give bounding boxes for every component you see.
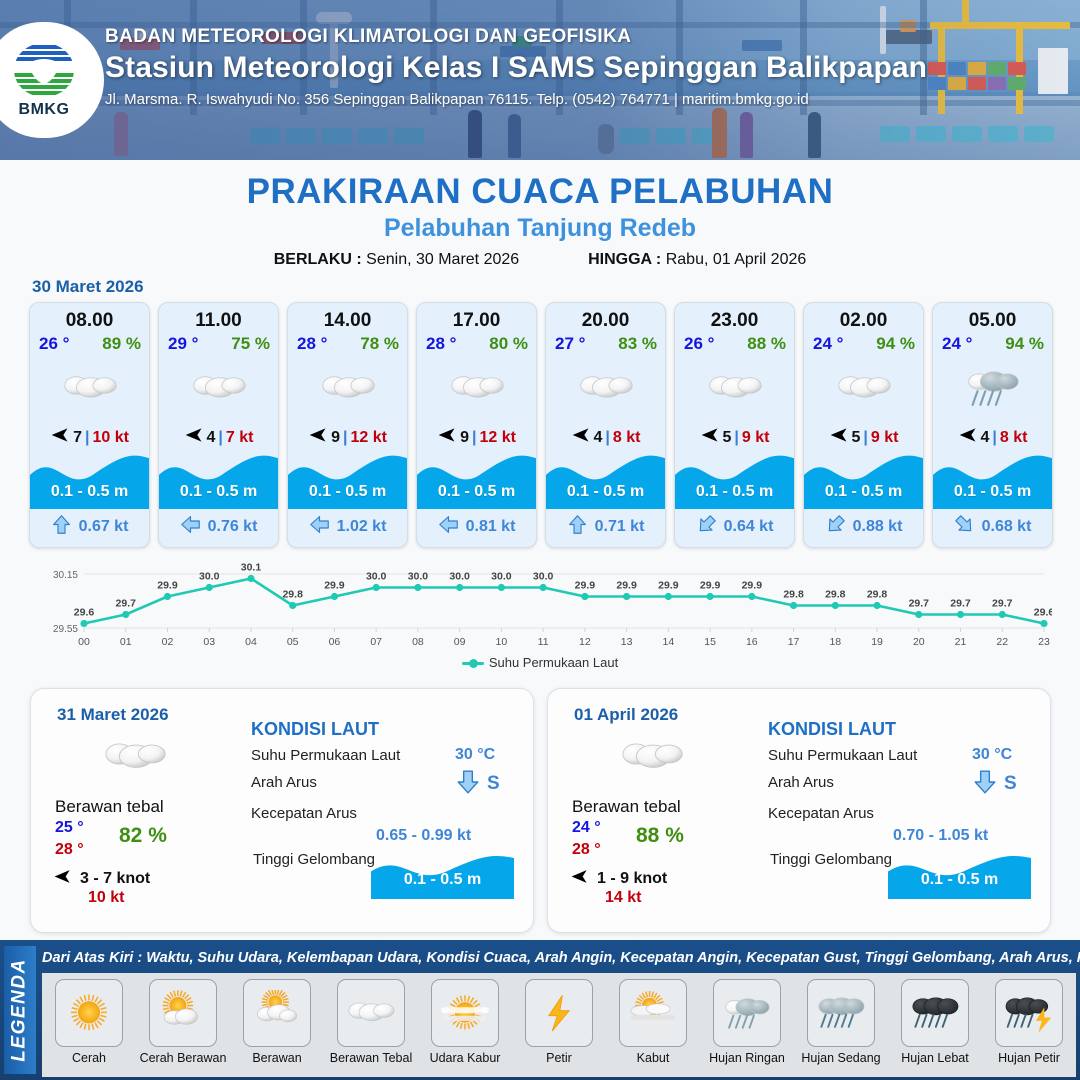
svg-text:30.0: 30.0 <box>366 571 387 583</box>
svg-text:00: 00 <box>78 636 90 648</box>
wave-graphic: 0.1 - 0.5 m <box>159 447 278 509</box>
wind-direction-arrow-icon <box>53 867 72 891</box>
weather-kabut-icon <box>619 979 687 1047</box>
valid-until-label: HINGGA : <box>588 251 661 268</box>
svg-text:20: 20 <box>913 636 925 648</box>
current-speed: 0.64 kt <box>724 518 774 536</box>
forecast-humidity: 83 % <box>618 334 657 354</box>
current-direction-label: Arah Arus <box>768 774 834 791</box>
wave-graphic: 0.1 - 0.5 m <box>288 447 407 509</box>
panel-wind: 3 - 7 knot <box>53 867 150 891</box>
wind-speed: 4 <box>594 429 603 447</box>
panel-wave-value: 0.1 - 0.5 m <box>888 871 1031 889</box>
weather-petir-icon <box>525 979 593 1047</box>
wind-speed: 9 <box>460 429 469 447</box>
forecast-current: 1.02 kt <box>288 512 407 542</box>
panel-gust: 14 kt <box>605 889 641 907</box>
svg-text:30.0: 30.0 <box>449 571 470 583</box>
weather-berawan-tebal-icon <box>288 357 407 419</box>
current-speed-label: Kecepatan Arus <box>251 805 357 822</box>
legend-item: Hujan Ringan <box>700 979 794 1065</box>
forecast-card[interactable]: 23.0026 °88 %5|9 kt0.1 - 0.5 m0.64 kt <box>674 302 795 548</box>
svg-text:30.0: 30.0 <box>533 571 554 583</box>
current-direction-arrow-icon <box>954 514 975 540</box>
wave-height: 0.1 - 0.5 m <box>933 483 1052 501</box>
wind-gust: 8 kt <box>613 429 641 447</box>
forecast-current: 0.71 kt <box>546 512 665 542</box>
page-subtitle: Pelabuhan Tanjung Redeb <box>0 214 1080 243</box>
svg-text:29.9: 29.9 <box>575 580 596 592</box>
current-direction-arrow-icon <box>51 514 72 540</box>
svg-text:23: 23 <box>1038 636 1050 648</box>
sst-value: 30 °C <box>455 746 495 764</box>
wind-speed: 7 <box>73 429 82 447</box>
forecast-temperature: 28 ° <box>426 334 456 354</box>
forecast-time: 08.00 <box>30 310 149 332</box>
current-direction-arrow-icon <box>825 514 846 540</box>
sea-conditions-title: KONDISI LAUT <box>768 719 896 740</box>
panel-wind-range: 3 - 7 knot <box>80 870 150 888</box>
station-address: Jl. Marsma. R. Iswahyudi No. 356 Sepingg… <box>105 91 1065 108</box>
svg-text:21: 21 <box>955 636 967 648</box>
legend-item: Berawan <box>230 979 324 1065</box>
wind-gust: 10 kt <box>92 429 128 447</box>
svg-text:29.7: 29.7 <box>116 598 137 610</box>
forecast-humidity: 94 % <box>1005 334 1044 354</box>
weather-udara-kabur-icon <box>431 979 499 1047</box>
svg-text:29.7: 29.7 <box>992 598 1013 610</box>
current-direction-arrow-icon <box>438 514 459 540</box>
svg-text:16: 16 <box>746 636 758 648</box>
daily-forecast-panel[interactable]: 01 April 2026Berawan tebal24 °28 °88 %1 … <box>547 688 1051 933</box>
daily-forecast-panel[interactable]: 31 Maret 2026Berawan tebal25 °28 °82 %3 … <box>30 688 534 933</box>
wave-height: 0.1 - 0.5 m <box>417 483 536 501</box>
weather-berawan-tebal-icon <box>30 357 149 419</box>
wave-graphic: 0.1 - 0.5 m <box>417 447 536 509</box>
station-name: Stasiun Meteorologi Kelas I SAMS Sepingg… <box>105 51 1065 85</box>
forecast-time: 14.00 <box>288 310 407 332</box>
wave-height: 0.1 - 0.5 m <box>288 483 407 501</box>
sea-conditions-title: KONDISI LAUT <box>251 719 379 740</box>
svg-text:29.55: 29.55 <box>53 624 78 635</box>
bmkg-logo-text: BMKG <box>19 101 70 119</box>
current-direction-arrow-icon <box>455 769 481 800</box>
svg-text:29.8: 29.8 <box>783 589 804 601</box>
weather-hujan-ringan-icon <box>713 979 781 1047</box>
panel-wave-value: 0.1 - 0.5 m <box>371 871 514 889</box>
weather-hujan-sedang-icon <box>807 979 875 1047</box>
forecast-time: 20.00 <box>546 310 665 332</box>
legend-item-label: Hujan Sedang <box>801 1051 880 1065</box>
svg-text:29.9: 29.9 <box>700 580 721 592</box>
svg-text:30.0: 30.0 <box>408 571 429 583</box>
weather-berawan-tebal-icon <box>417 357 536 419</box>
wind-gust: 9 kt <box>871 429 899 447</box>
legend-item: Cerah <box>42 979 136 1065</box>
legend-item: Petir <box>512 979 606 1065</box>
svg-text:29.7: 29.7 <box>950 598 971 610</box>
legend-section: LEGENDA Dari Atas Kiri : Waktu, Suhu Uda… <box>0 940 1080 1080</box>
svg-text:22: 22 <box>996 636 1008 648</box>
wind-speed: 4 <box>981 429 990 447</box>
forecast-temperature: 26 ° <box>684 334 714 354</box>
forecast-temperature: 24 ° <box>813 334 843 354</box>
svg-text:13: 13 <box>621 636 633 648</box>
weather-berawan-tebal-icon <box>675 357 794 419</box>
forecast-card[interactable]: 20.0027 °83 %4|8 kt0.1 - 0.5 m0.71 kt <box>545 302 666 548</box>
svg-text:29.9: 29.9 <box>616 580 637 592</box>
svg-text:07: 07 <box>370 636 382 648</box>
sst-value: 30 °C <box>972 746 1012 764</box>
title-block: PRAKIRAAN CUACA PELABUHAN Pelabuhan Tanj… <box>0 160 1080 280</box>
panel-wind-range: 1 - 9 knot <box>597 870 667 888</box>
svg-text:30.1: 30.1 <box>241 562 262 574</box>
forecast-card[interactable]: 14.0028 °78 %9|12 kt0.1 - 0.5 m1.02 kt <box>287 302 408 548</box>
forecast-day-label: 30 Maret 2026 <box>32 277 144 297</box>
forecast-current: 0.67 kt <box>30 512 149 542</box>
forecast-current: 0.68 kt <box>933 512 1052 542</box>
valid-from-value: Senin, 30 Maret 2026 <box>366 251 519 268</box>
weather-cerah-icon <box>55 979 123 1047</box>
legend-item: Udara Kabur <box>418 979 512 1065</box>
svg-text:09: 09 <box>454 636 466 648</box>
forecast-humidity: 80 % <box>489 334 528 354</box>
svg-text:29.6: 29.6 <box>74 607 95 619</box>
weather-berawan-tebal-icon <box>546 357 665 419</box>
current-direction-value: S <box>1004 773 1017 795</box>
weather-cerah-berawan-icon <box>149 979 217 1047</box>
forecast-card[interactable]: 08.0026 °89 %7|10 kt0.1 - 0.5 m0.67 kt <box>29 302 150 548</box>
wind-speed: 9 <box>331 429 340 447</box>
svg-text:15: 15 <box>704 636 716 648</box>
sst-chart: 30.1529.550029.60129.70229.90330.00430.1… <box>28 556 1052 678</box>
forecast-humidity: 89 % <box>102 334 141 354</box>
svg-text:17: 17 <box>788 636 800 648</box>
legend-item: Kabut <box>606 979 700 1065</box>
svg-text:29.8: 29.8 <box>825 589 846 601</box>
panel-humidity: 88 % <box>636 824 684 848</box>
current-speed: 0.81 kt <box>466 518 516 536</box>
page-title: PRAKIRAAN CUACA PELABUHAN <box>0 160 1080 212</box>
forecast-current: 0.76 kt <box>159 512 278 542</box>
svg-text:04: 04 <box>245 636 257 648</box>
wave-height: 0.1 - 0.5 m <box>675 483 794 501</box>
legend-item-label: Petir <box>546 1051 572 1065</box>
panel-temp-min: 25 ° <box>55 819 84 837</box>
forecast-current: 0.81 kt <box>417 512 536 542</box>
forecast-current: 0.64 kt <box>675 512 794 542</box>
panel-date: 31 Maret 2026 <box>57 705 169 725</box>
page-header: BMKG BADAN METEOROLOGI KLIMATOLOGI DAN G… <box>0 0 1080 160</box>
legend-title: LEGENDA <box>9 958 31 1061</box>
legend-item: Hujan Petir <box>982 979 1076 1065</box>
svg-text:29.9: 29.9 <box>658 580 679 592</box>
current-direction-arrow-icon <box>180 514 201 540</box>
weather-hujan-ringan-icon <box>933 357 1052 419</box>
svg-text:29.7: 29.7 <box>909 598 930 610</box>
current-direction-arrow-icon <box>696 514 717 540</box>
svg-text:29.9: 29.9 <box>324 580 345 592</box>
current-speed: 0.71 kt <box>595 518 645 536</box>
forecast-time: 05.00 <box>933 310 1052 332</box>
svg-text:14: 14 <box>663 636 675 648</box>
legend-note: Dari Atas Kiri : Waktu, Suhu Udara, Kele… <box>42 950 1080 966</box>
wave-graphic: 0.1 - 0.5 m <box>30 447 149 509</box>
svg-text:11: 11 <box>538 636 549 648</box>
chart-legend-label: Suhu Permukaan Laut <box>489 655 618 670</box>
current-direction-arrow-icon <box>567 514 588 540</box>
legend-title-bar: LEGENDA <box>4 946 36 1074</box>
weather-berawan-tebal-icon <box>337 979 405 1047</box>
wind-speed: 5 <box>723 429 732 447</box>
weather-berawan-icon <box>243 979 311 1047</box>
panel-wind: 1 - 9 knot <box>570 867 667 891</box>
current-speed-label: Kecepatan Arus <box>768 805 874 822</box>
forecast-card[interactable]: 11.0029 °75 %4|7 kt0.1 - 0.5 m0.76 kt <box>158 302 279 548</box>
panel-condition: Berawan tebal <box>55 797 164 817</box>
legend-item: Berawan Tebal <box>324 979 418 1065</box>
forecast-card-list: 08.0026 °89 %7|10 kt0.1 - 0.5 m0.67 kt11… <box>29 302 1053 550</box>
forecast-temperature: 28 ° <box>297 334 327 354</box>
forecast-humidity: 94 % <box>876 334 915 354</box>
legend-item: Hujan Lebat <box>888 979 982 1065</box>
panel-temp-max: 28 ° <box>55 841 84 859</box>
current-speed-value: 0.65 - 0.99 kt <box>376 827 471 845</box>
wind-gust: 7 kt <box>226 429 254 447</box>
svg-text:19: 19 <box>871 636 883 648</box>
current-speed: 0.88 kt <box>853 518 903 536</box>
wind-speed: 4 <box>207 429 216 447</box>
panel-humidity: 82 % <box>119 824 167 848</box>
wind-gust: 9 kt <box>742 429 770 447</box>
current-speed: 0.68 kt <box>982 518 1032 536</box>
svg-text:10: 10 <box>496 636 508 648</box>
wind-gust: 12 kt <box>350 429 386 447</box>
legend-item-label: Udara Kabur <box>430 1051 501 1065</box>
svg-text:06: 06 <box>329 636 341 648</box>
svg-text:29.9: 29.9 <box>157 580 178 592</box>
panel-condition: Berawan tebal <box>572 797 681 817</box>
forecast-temperature: 27 ° <box>555 334 585 354</box>
wave-height-label: Tinggi Gelombang <box>253 851 375 868</box>
legend-item: Hujan Sedang <box>794 979 888 1065</box>
legend-item-label: Cerah Berawan <box>140 1051 227 1065</box>
forecast-time: 17.00 <box>417 310 536 332</box>
svg-text:30.0: 30.0 <box>199 571 220 583</box>
weather-hujan-lebat-icon <box>901 979 969 1047</box>
weather-berawan-tebal-icon <box>600 729 704 785</box>
current-speed: 1.02 kt <box>337 518 387 536</box>
weather-berawan-tebal-icon <box>804 357 923 419</box>
legend-item-label: Cerah <box>72 1051 106 1065</box>
svg-text:29.8: 29.8 <box>867 589 888 601</box>
chart-legend: Suhu Permukaan Laut <box>28 655 1052 670</box>
svg-text:18: 18 <box>829 636 841 648</box>
wave-height: 0.1 - 0.5 m <box>30 483 149 501</box>
wave-graphic: 0.1 - 0.5 m <box>546 447 665 509</box>
panel-temp-max: 28 ° <box>572 841 601 859</box>
current-direction-arrow-icon <box>309 514 330 540</box>
panel-wave-graphic: 0.1 - 0.5 m <box>888 849 1031 899</box>
svg-text:29.6: 29.6 <box>1034 607 1052 619</box>
sst-label: Suhu Permukaan Laut <box>251 747 400 764</box>
legend-item-label: Berawan <box>252 1051 301 1065</box>
svg-text:03: 03 <box>203 636 215 648</box>
legend-icon-strip: CerahCerah BerawanBerawanBerawan TebalUd… <box>42 973 1076 1077</box>
svg-text:05: 05 <box>287 636 299 648</box>
svg-text:30.15: 30.15 <box>53 570 78 581</box>
svg-text:30.0: 30.0 <box>491 571 512 583</box>
wind-speed: 5 <box>852 429 861 447</box>
forecast-humidity: 75 % <box>231 334 270 354</box>
valid-until-value: Rabu, 01 April 2026 <box>666 251 807 268</box>
wave-graphic: 0.1 - 0.5 m <box>933 447 1052 509</box>
bmkg-logo-mark <box>10 42 78 100</box>
legend-item-label: Hujan Lebat <box>901 1051 968 1065</box>
wave-height: 0.1 - 0.5 m <box>159 483 278 501</box>
current-speed-value: 0.70 - 1.05 kt <box>893 827 988 845</box>
svg-text:29.8: 29.8 <box>282 589 303 601</box>
legend-item: Cerah Berawan <box>136 979 230 1065</box>
wind-gust: 12 kt <box>479 429 515 447</box>
chart-legend-marker <box>462 658 484 668</box>
weather-hujan-petir-icon <box>995 979 1063 1047</box>
forecast-time: 11.00 <box>159 310 278 332</box>
current-direction-label: Arah Arus <box>251 774 317 791</box>
weather-berawan-tebal-icon <box>159 357 278 419</box>
wave-height: 0.1 - 0.5 m <box>546 483 665 501</box>
svg-text:08: 08 <box>412 636 424 648</box>
forecast-time: 02.00 <box>804 310 923 332</box>
current-speed: 0.67 kt <box>79 518 129 536</box>
legend-item-label: Berawan Tebal <box>330 1051 412 1065</box>
svg-text:29.9: 29.9 <box>742 580 763 592</box>
forecast-current: 0.88 kt <box>804 512 923 542</box>
forecast-temperature: 24 ° <box>942 334 972 354</box>
valid-from-label: BERLAKU : <box>274 251 362 268</box>
current-direction-value: S <box>487 773 500 795</box>
svg-text:12: 12 <box>579 636 591 648</box>
panel-wave-graphic: 0.1 - 0.5 m <box>371 849 514 899</box>
legend-item-label: Hujan Ringan <box>709 1051 785 1065</box>
svg-text:01: 01 <box>120 636 132 648</box>
panel-gust: 10 kt <box>88 889 124 907</box>
wave-graphic: 0.1 - 0.5 m <box>804 447 923 509</box>
forecast-card[interactable]: 17.0028 °80 %9|12 kt0.1 - 0.5 m0.81 kt <box>416 302 537 548</box>
legend-item-label: Hujan Petir <box>998 1051 1060 1065</box>
panel-temp-min: 24 ° <box>572 819 601 837</box>
forecast-temperature: 29 ° <box>168 334 198 354</box>
svg-text:02: 02 <box>162 636 174 648</box>
legend-item-label: Kabut <box>637 1051 670 1065</box>
current-direction-arrow-icon <box>972 769 998 800</box>
panel-date: 01 April 2026 <box>574 705 678 725</box>
validity-line: BERLAKU : Senin, 30 Maret 2026 HINGGA : … <box>0 251 1080 269</box>
forecast-card[interactable]: 05.0024 °94 %4|8 kt0.1 - 0.5 m0.68 kt <box>932 302 1053 548</box>
wave-graphic: 0.1 - 0.5 m <box>675 447 794 509</box>
sst-label: Suhu Permukaan Laut <box>768 747 917 764</box>
current-speed: 0.76 kt <box>208 518 258 536</box>
wave-height: 0.1 - 0.5 m <box>804 483 923 501</box>
wave-height-label: Tinggi Gelombang <box>770 851 892 868</box>
forecast-humidity: 78 % <box>360 334 399 354</box>
daily-panel-list: 31 Maret 2026Berawan tebal25 °28 °82 %3 … <box>30 688 1052 933</box>
forecast-humidity: 88 % <box>747 334 786 354</box>
agency-name: BADAN METEOROLOGI KLIMATOLOGI DAN GEOFIS… <box>105 26 1065 48</box>
wind-direction-arrow-icon <box>570 867 589 891</box>
forecast-card[interactable]: 02.0024 °94 %5|9 kt0.1 - 0.5 m0.88 kt <box>803 302 924 548</box>
forecast-temperature: 26 ° <box>39 334 69 354</box>
wind-gust: 8 kt <box>1000 429 1028 447</box>
weather-berawan-tebal-icon <box>83 729 187 785</box>
forecast-time: 23.00 <box>675 310 794 332</box>
